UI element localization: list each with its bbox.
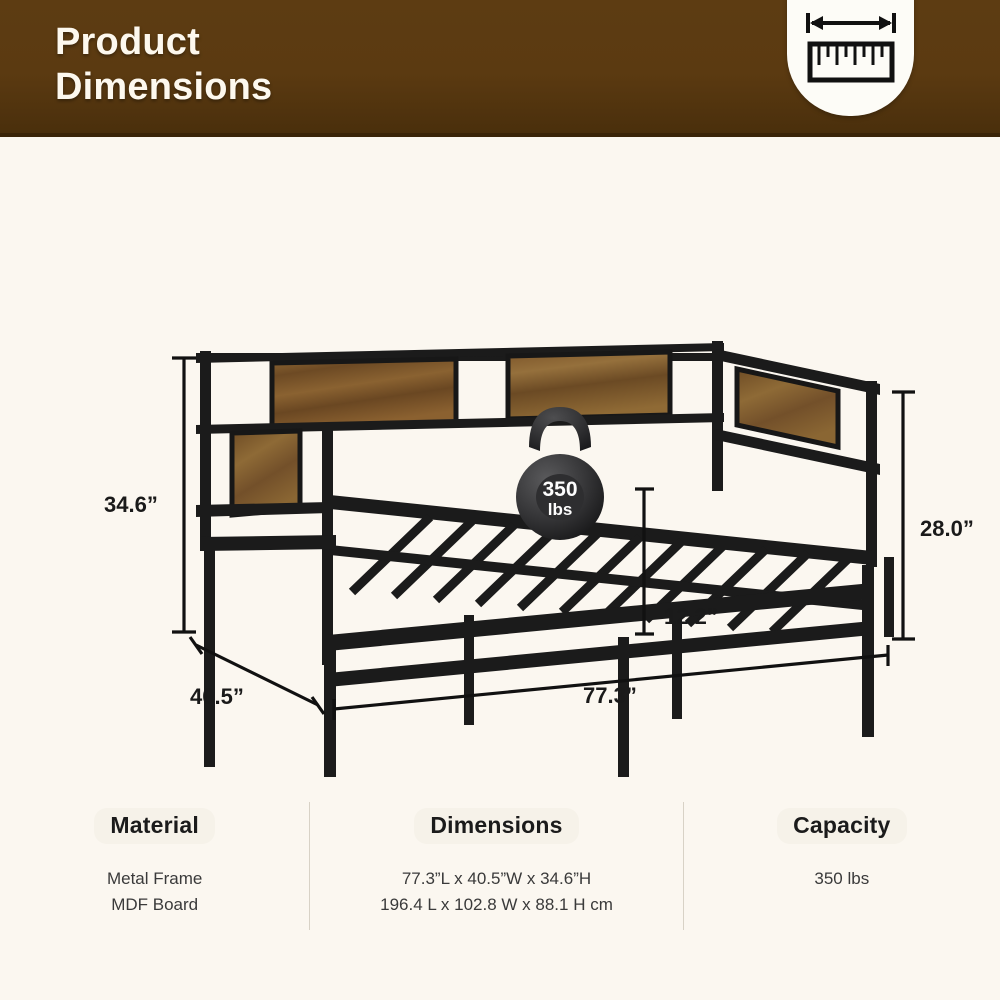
spec-heading-dimensions: Dimensions xyxy=(414,808,578,844)
spec-heading-capacity: Capacity xyxy=(777,808,906,844)
dimensions-line-inches: 77.3”L x 40.5”W x 34.6”H xyxy=(380,866,613,892)
dimension-label-clearance: 12.2” xyxy=(664,604,718,629)
page-title: Product Dimensions xyxy=(55,20,272,110)
spec-body-material: Metal Frame MDF Board xyxy=(107,866,202,919)
capacity-unit-on-kettlebell: lbs xyxy=(548,500,573,519)
dimension-label-length: 77.3” xyxy=(583,683,637,708)
kettlebell-icon: 350 lbs xyxy=(516,407,604,540)
ruler-badge xyxy=(787,0,914,116)
spec-body-capacity: 350 lbs xyxy=(814,866,869,892)
spec-heading-material: Material xyxy=(94,808,215,844)
page-title-line-2: Dimensions xyxy=(55,65,272,110)
material-line-1: Metal Frame xyxy=(107,866,202,892)
dimension-label-depth: 40.5” xyxy=(190,684,244,709)
spec-column-capacity: Capacity 350 lbs xyxy=(684,790,1000,950)
capacity-value-on-kettlebell: 350 xyxy=(542,478,577,501)
daybed-drawing: 350 lbs 34.6 xyxy=(104,341,974,777)
dimensions-line-cm: 196.4 L x 102.8 W x 88.1 H cm xyxy=(380,892,613,918)
capacity-line-1: 350 lbs xyxy=(814,866,869,892)
spec-body-dimensions: 77.3”L x 40.5”W x 34.6”H 196.4 L x 102.8… xyxy=(380,866,613,919)
dimension-label-height-overall: 34.6” xyxy=(104,492,158,517)
spec-column-dimensions: Dimensions 77.3”L x 40.5”W x 34.6”H 196.… xyxy=(310,790,682,950)
product-dimension-illustration: 350 lbs 34.6 xyxy=(0,137,1000,777)
page-header: Product Dimensions xyxy=(0,0,1000,133)
material-line-2: MDF Board xyxy=(107,892,202,918)
spec-column-material: Material Metal Frame MDF Board xyxy=(0,790,309,950)
page-title-line-1: Product xyxy=(55,20,272,65)
dimension-label-height-arm: 28.0” xyxy=(920,516,974,541)
specs-footer: Material Metal Frame MDF Board Dimension… xyxy=(0,790,1000,950)
